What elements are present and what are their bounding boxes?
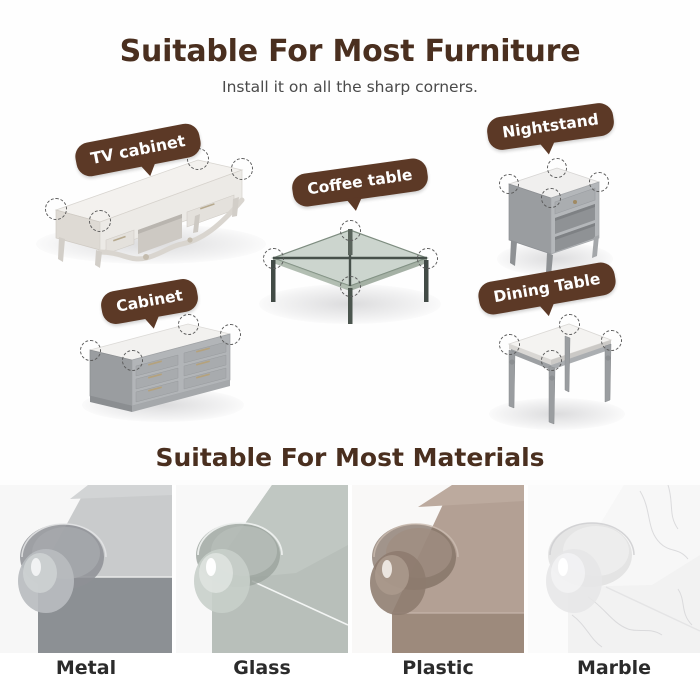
material-swatch-marble [528,485,700,653]
cabinet-corner-marker [178,314,199,335]
dining-table-drawing [487,312,627,432]
plastic-corner-illustration [352,485,524,653]
material-swatch-glass [176,485,348,653]
material-label-plastic: Plastic [352,657,524,679]
glass-corner-illustration [176,485,348,653]
coffee-table-corner-marker [340,220,361,241]
badge-tail [144,314,162,330]
nightstand-corner-marker [541,188,561,208]
material-item-marble: Marble [528,485,700,700]
material-item-plastic: Plastic [352,485,524,700]
tv-cabinet-corner-marker [45,198,67,220]
badge-tail [346,197,364,212]
furniture-section: Suitable For Most Furniture Install it o… [0,0,700,480]
badge-nightstand-label: Nightstand [501,110,600,141]
tv-cabinet-corner-marker [89,210,111,232]
material-label-marble: Marble [528,657,700,679]
badge-cabinet-label: Cabinet [115,286,184,315]
product-infographic: Suitable For Most Furniture Install it o… [0,0,700,700]
furniture-cabinet [78,300,248,425]
material-swatch-plastic [352,485,524,653]
metal-corner-illustration [0,485,172,653]
coffee-table-corner-marker [417,248,438,269]
material-label-metal: Metal [0,657,172,679]
coffee-table-corner-marker [263,248,284,269]
dining-table-corner-marker [559,314,580,335]
badge-tail [539,302,557,318]
materials-section: Metal [0,485,700,700]
badge-coffee-table-label: Coffee table [306,166,413,199]
badge-coffee-table: Coffee table [290,157,429,209]
badge-nightstand: Nightstand [485,101,615,151]
furniture-dining-table [487,312,627,432]
badge-tail [539,141,557,156]
page-title: Suitable For Most Furniture [0,34,700,69]
cabinet-corner-marker [220,324,241,345]
material-item-glass: Glass [176,485,348,700]
materials-title: Suitable For Most Materials [0,443,700,472]
furniture-coffee-table [255,212,445,327]
dining-table-corner-marker [541,350,562,371]
marble-corner-illustration [528,485,700,653]
page-subtitle: Install it on all the sharp corners. [0,78,700,96]
tv-cabinet-corner-marker [231,158,253,180]
cabinet-corner-marker [122,350,143,371]
material-swatch-metal [0,485,172,653]
nightstand-corner-marker [589,172,609,192]
nightstand-corner-marker [499,174,519,194]
nightstand-corner-marker [547,158,567,178]
material-label-glass: Glass [176,657,348,679]
dining-table-corner-marker [601,330,622,351]
cabinet-drawing [78,300,248,425]
cabinet-corner-marker [80,340,101,361]
coffee-table-corner-marker [340,276,361,297]
material-item-metal: Metal [0,485,172,700]
dining-table-corner-marker [499,334,520,355]
